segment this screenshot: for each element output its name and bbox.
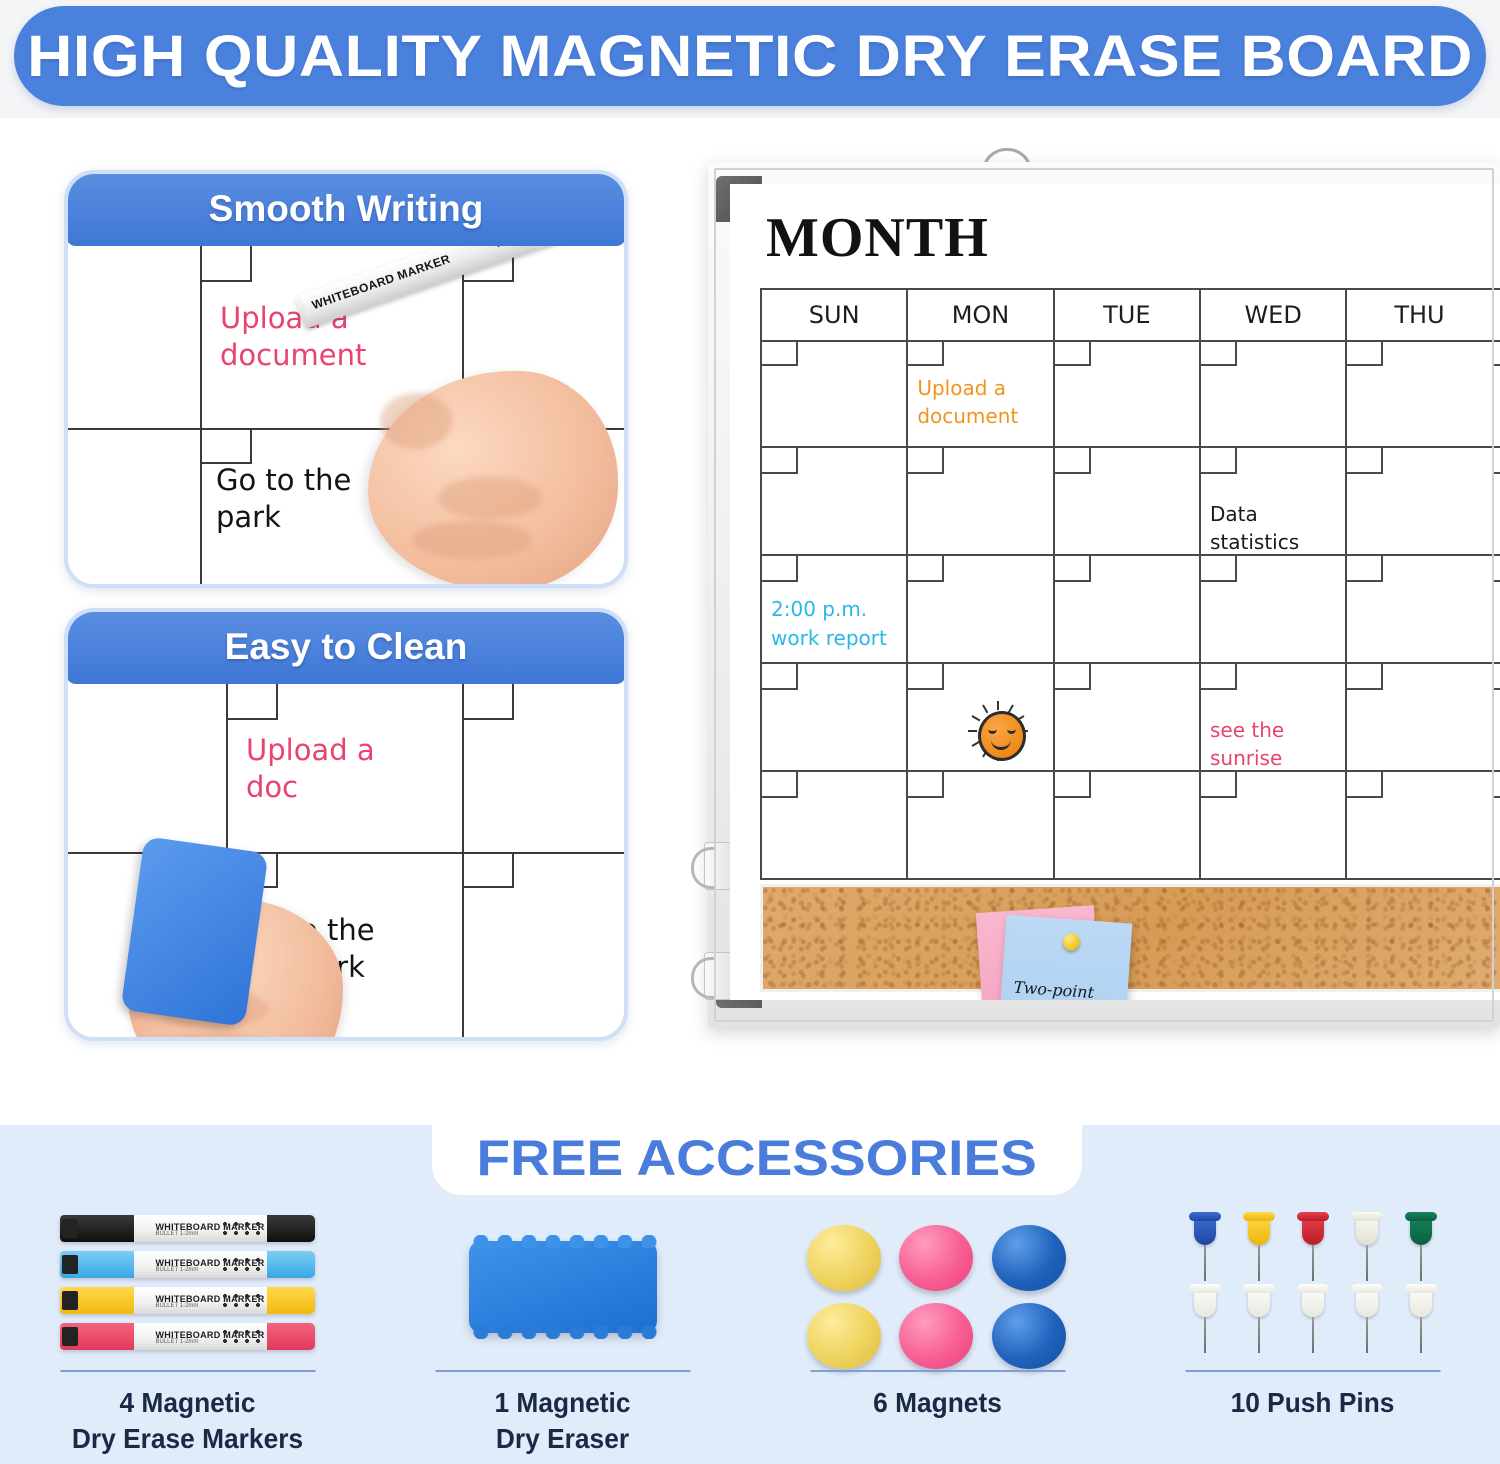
push-pin-clear (1243, 1287, 1275, 1359)
calendar-cell[interactable] (762, 664, 908, 770)
calendar-cell[interactable] (1347, 556, 1493, 662)
board-note-work-report: 2:00 p.m. work report (771, 595, 902, 652)
header-band: HIGH QUALITY MAGNETIC DRY ERASE BOARD (0, 0, 1500, 118)
divider (435, 1370, 690, 1372)
push-pin-clear (1189, 1287, 1221, 1359)
accessories-banner: FREE ACCESSORIES (432, 1097, 1082, 1195)
calendar-cell[interactable] (1055, 556, 1201, 662)
hand-holding-marker (368, 371, 618, 584)
calendar-cell[interactable] (1347, 448, 1493, 554)
divider (1185, 1370, 1440, 1372)
day-header-tue: TUE (1055, 290, 1201, 340)
board-note-upload: Upload a document (917, 374, 1048, 431)
sticky-note-text: Two-point fetch report (1011, 973, 1123, 1000)
calendar-cell[interactable] (762, 340, 908, 446)
accessory-label-eraser: 1 Magnetic Dry Eraser (386, 1385, 739, 1457)
handwritten-note-upload-erased: Upload a doc (246, 732, 375, 806)
accessory-item-push-pins: 10 Push Pins (1125, 1207, 1500, 1464)
calendar-cell[interactable] (1494, 664, 1500, 770)
marker-sublabel: BULLET 1-2mm (156, 1231, 199, 1237)
push-pin-white (1351, 1215, 1383, 1287)
accessory-label-magnets: 6 Magnets (761, 1385, 1114, 1421)
feature-card-smooth-writing: Smooth Writing Upload a document Go to t… (64, 170, 628, 588)
magnetic-eraser (120, 836, 268, 1027)
calendar-cell[interactable] (1347, 340, 1493, 446)
push-pin-clear (1405, 1287, 1437, 1359)
magnet-pink (899, 1303, 973, 1369)
push-pin-clear (1351, 1287, 1383, 1359)
day-header-wed: WED (1201, 290, 1347, 340)
calendar-cell[interactable] (1055, 772, 1201, 878)
feature-card-easy-to-clean: Easy to Clean Upload a doc o the park (64, 608, 628, 1041)
calendar-cell[interactable]: Upload a document (908, 340, 1054, 446)
calendar-cell[interactable] (1201, 340, 1347, 446)
push-pin-row-bottom (1189, 1287, 1437, 1359)
calendar-cell[interactable] (908, 556, 1054, 662)
push-pin-icon (1062, 933, 1080, 951)
accessory-label-markers: 4 Magnetic Dry Erase Markers (11, 1385, 364, 1457)
board-note-sunrise: see the sunrise (1210, 716, 1341, 773)
month-title: MONTH (766, 206, 989, 270)
calendar-week-row: Data statistics (762, 448, 1500, 556)
calendar-cell[interactable] (1347, 664, 1493, 770)
calendar-cell[interactable] (1347, 772, 1493, 878)
day-header-mon: MON (908, 290, 1054, 340)
marker-sublabel: BULLET 1-2mm (156, 1339, 199, 1345)
magnet-blue (992, 1303, 1066, 1369)
markers-icon: WHITEBOARD MARKER BULLET 1-2mm WHITEBOAR… (0, 1207, 375, 1367)
feature-body-smooth-writing: Upload a document Go to the park WHITEBO… (68, 246, 624, 584)
calendar-cell[interactable] (908, 448, 1054, 554)
page-title: HIGH QUALITY MAGNETIC DRY ERASE BOARD (0, 6, 1500, 106)
magnet-yellow (807, 1225, 881, 1291)
handwritten-note-park: Go to the park (216, 462, 351, 536)
push-pin-row-top (1189, 1215, 1437, 1287)
calendar-cell[interactable] (1494, 448, 1500, 554)
push-pin-green (1405, 1215, 1437, 1287)
calendar-cell[interactable] (1201, 556, 1347, 662)
feature-body-easy-to-clean: Upload a doc o the park (68, 684, 624, 1037)
main-section: Smooth Writing Upload a document Go to t… (0, 118, 1500, 1125)
calendar-day-headers: SUN MON TUE WED THU (762, 290, 1500, 342)
calendar-week-row (762, 772, 1500, 878)
marker-sublabel: BULLET 1-2mm (156, 1267, 199, 1273)
whiteboard: MONTH SUN MON TUE WED THU (700, 148, 1500, 1048)
accessory-item-eraser: 1 Magnetic Dry Eraser (375, 1207, 750, 1464)
calendar-cell[interactable] (1494, 340, 1500, 446)
accessory-item-markers: WHITEBOARD MARKER BULLET 1-2mm WHITEBOAR… (0, 1207, 375, 1464)
push-pins-icon (1125, 1207, 1500, 1367)
calendar-cell[interactable] (1055, 664, 1201, 770)
day-header-fri-cropped (1494, 290, 1500, 340)
board-note-data-statistics: Data statistics (1210, 500, 1341, 557)
sticky-note-blue[interactable]: Two-point fetch report (996, 915, 1133, 1000)
calendar-week-row: 2:00 p.m. work report (762, 556, 1500, 664)
feature-title-easy-to-clean: Easy to Clean (66, 610, 626, 684)
calendar-week-row: Upload a document (762, 340, 1500, 448)
feature-title-smooth-writing: Smooth Writing (66, 172, 626, 246)
marker-sublabel: BULLET 1-2mm (156, 1303, 199, 1309)
calendar-cell[interactable] (908, 664, 1054, 770)
calendar-cell[interactable] (1201, 772, 1347, 878)
push-pin-yellow (1243, 1215, 1275, 1287)
accessory-label-push-pins: 10 Push Pins (1136, 1385, 1489, 1421)
divider (60, 1370, 315, 1372)
magnet-pink (899, 1225, 973, 1291)
calendar-week-row: see the sunrise (762, 664, 1500, 772)
calendar-cell[interactable] (1055, 340, 1201, 446)
magnet-yellow (807, 1303, 881, 1369)
calendar-cell[interactable]: see the sunrise (1201, 664, 1347, 770)
day-header-sun: SUN (762, 290, 908, 340)
calendar-cell[interactable] (762, 772, 908, 878)
calendar-cell[interactable]: Data statistics (1201, 448, 1347, 554)
marker-model-badge: G-18 (492, 246, 529, 247)
accessory-item-magnets: 6 Magnets (750, 1207, 1125, 1464)
calendar-body: Upload a document Data (762, 340, 1500, 878)
divider (810, 1370, 1065, 1372)
accessories-list: WHITEBOARD MARKER BULLET 1-2mm WHITEBOAR… (0, 1207, 1500, 1464)
push-pin-clear (1297, 1287, 1329, 1359)
magnets-icon (750, 1207, 1125, 1367)
push-pin-red (1297, 1215, 1329, 1287)
calendar-cell[interactable] (1494, 556, 1500, 662)
sun-smiley-doodle-icon (969, 702, 1027, 760)
accessories-section: FREE ACCESSORIES WHITEBOARD MARKER BULLE… (0, 1125, 1500, 1464)
eraser-icon (375, 1207, 750, 1367)
calendar-cell[interactable] (1494, 772, 1500, 878)
accessories-banner-title: FREE ACCESSORIES (477, 1129, 1037, 1187)
calendar-cell[interactable] (1055, 448, 1201, 554)
calendar-cell[interactable] (762, 448, 908, 554)
board-surface: MONTH SUN MON TUE WED THU (730, 184, 1500, 1000)
magnet-blue (992, 1225, 1066, 1291)
calendar-cell[interactable] (908, 772, 1054, 878)
board-frame: MONTH SUN MON TUE WED THU (708, 162, 1500, 1028)
push-pin-blue (1189, 1215, 1221, 1287)
header-pill: HIGH QUALITY MAGNETIC DRY ERASE BOARD (14, 6, 1486, 106)
calendar-cell[interactable]: 2:00 p.m. work report (762, 556, 908, 662)
calendar-grid: SUN MON TUE WED THU Upload a document (760, 288, 1500, 880)
day-header-thu: THU (1347, 290, 1493, 340)
cork-board: Two-point fetch report (760, 884, 1500, 992)
